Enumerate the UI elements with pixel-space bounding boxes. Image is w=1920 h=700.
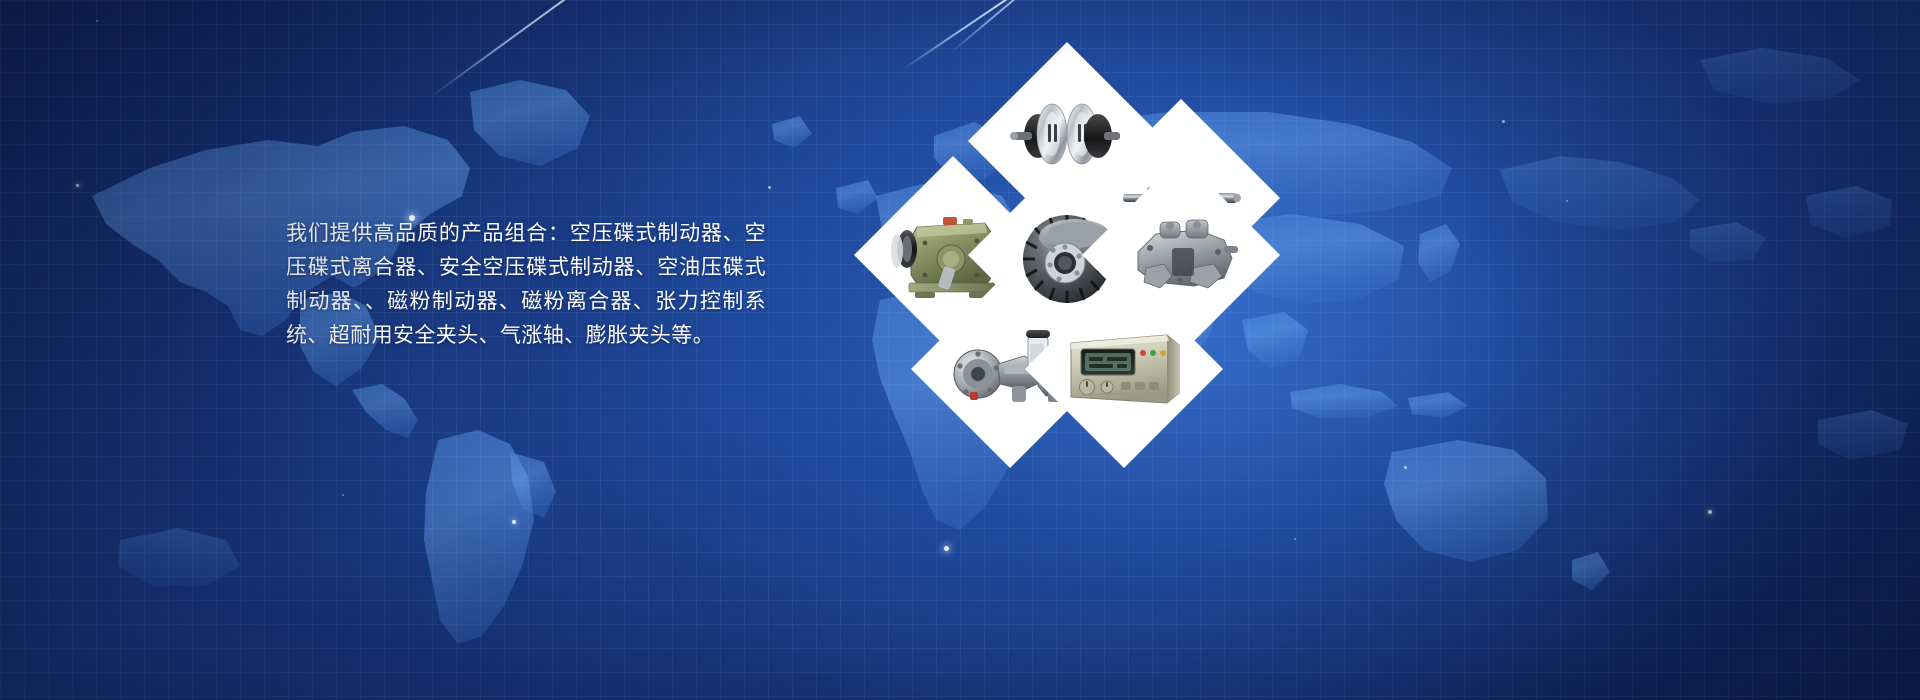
banner-description: 我们提供高品质的产品组合：空压碟式制动器、空压碟式离合器、安全空压碟式制动器、空… [286, 216, 766, 352]
star-particle [768, 186, 771, 189]
star-particle [96, 20, 98, 22]
hero-banner: 我们提供高品质的产品组合：空压碟式制动器、空压碟式离合器、安全空压碟式制动器、空… [0, 0, 1920, 700]
star-particle [1708, 510, 1712, 514]
star-particle [1502, 120, 1505, 123]
light-streak-2 [900, 0, 1009, 72]
star-particle [76, 184, 79, 187]
star-particle [1404, 466, 1407, 469]
star-particle [512, 520, 516, 524]
light-streak-1 [430, 0, 569, 98]
star-particle [1294, 538, 1296, 540]
star-particle [342, 494, 344, 496]
tension-controller-icon [1063, 327, 1185, 411]
star-particle [1566, 200, 1568, 202]
banner-description-text: 我们提供高品质的产品组合：空压碟式制动器、空压碟式离合器、安全空压碟式制动器、空… [286, 216, 766, 352]
light-streak-3 [950, 0, 1020, 53]
product-diamond-cluster [883, 141, 1251, 437]
star-particle [944, 546, 949, 551]
